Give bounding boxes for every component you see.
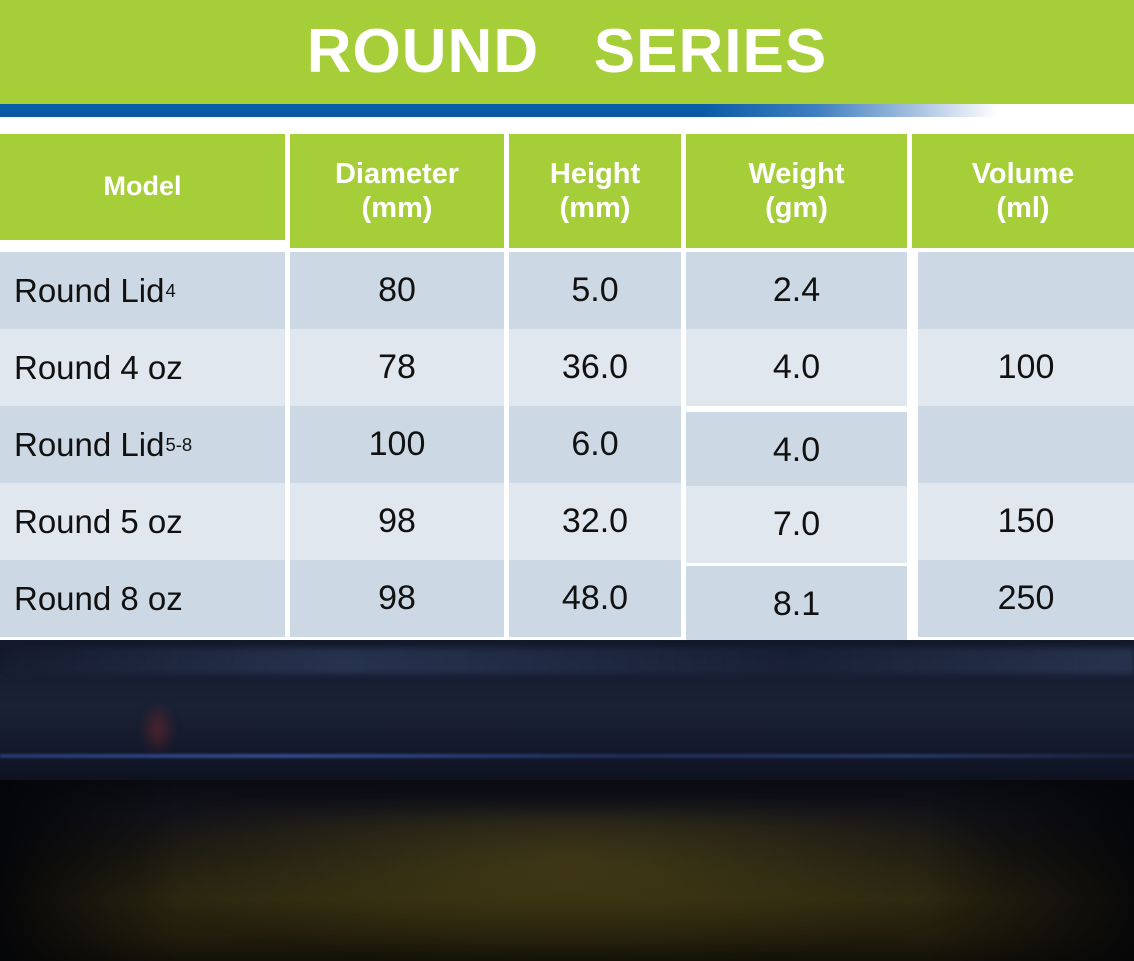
- cell-volume: [918, 252, 1134, 329]
- table-row: Round 8 oz: [0, 560, 285, 637]
- product-photo: [0, 640, 1134, 961]
- cell-height: 6.0: [509, 406, 681, 483]
- table-row: Round 5 oz: [0, 483, 285, 560]
- cell-volume: 100: [918, 329, 1134, 406]
- cell-height: 48.0: [509, 560, 681, 637]
- cell-volume: [918, 406, 1134, 483]
- cell-diameter: 80: [290, 252, 504, 329]
- table-row: Round Lid5-8: [0, 406, 285, 483]
- cell-volume: 150: [918, 483, 1134, 560]
- cell-model: Round Lid: [14, 426, 164, 464]
- cell-weight: 2.4: [686, 252, 907, 329]
- column-header-height-unit: (mm): [560, 191, 631, 225]
- table-row: Round 4 oz: [0, 329, 285, 406]
- photo-vignette-left: [0, 780, 180, 961]
- column-header-weight: Weight (gm): [686, 134, 907, 248]
- photo-surface-glow: [120, 810, 1020, 960]
- cell-diameter: 100: [290, 406, 504, 483]
- column-header-model: Model: [0, 134, 285, 240]
- photo-horizon-line: [0, 754, 1134, 758]
- cell-volume: 250: [918, 560, 1134, 637]
- column-header-volume-unit: (ml): [996, 191, 1049, 225]
- product-spec-sheet: ROUND SERIES Model Diameter (mm) Height …: [0, 0, 1134, 961]
- cell-model: Round 8 oz: [14, 580, 183, 618]
- blue-accent-rule: [0, 104, 1134, 117]
- column-header-model-label: Model: [104, 171, 182, 203]
- cell-model: Round 5 oz: [14, 503, 183, 541]
- banner-table-gap: [0, 117, 1134, 134]
- photo-wall-streak: [0, 648, 1134, 674]
- cell-height: 5.0: [509, 252, 681, 329]
- column-header-diameter: Diameter (mm): [290, 134, 504, 248]
- spec-table: Model Diameter (mm) Height (mm) Weight (…: [0, 134, 1134, 640]
- cell-height: 32.0: [509, 483, 681, 560]
- column-header-height-label: Height: [550, 157, 640, 191]
- column-header-diameter-unit: (mm): [362, 191, 433, 225]
- cell-diameter: 98: [290, 483, 504, 560]
- column-header-weight-label: Weight: [748, 157, 844, 191]
- column-header-volume: Volume (ml): [912, 134, 1134, 248]
- cell-diameter: 78: [290, 329, 504, 406]
- cell-diameter: 98: [290, 560, 504, 637]
- photo-vignette-right: [924, 780, 1134, 961]
- cell-weight: 8.1: [686, 566, 907, 643]
- column-header-height: Height (mm): [509, 134, 681, 248]
- cell-weight: 4.0: [686, 329, 907, 406]
- cell-weight: 7.0: [686, 486, 907, 563]
- page-title: ROUND SERIES: [307, 21, 827, 83]
- table-row: Round Lid4: [0, 252, 285, 329]
- cell-model: Round 4 oz: [14, 349, 183, 387]
- column-header-weight-unit: (gm): [765, 191, 828, 225]
- photo-wall-smudge: [140, 702, 176, 756]
- cell-weight: 4.0: [686, 412, 907, 489]
- cell-height: 36.0: [509, 329, 681, 406]
- column-header-volume-label: Volume: [972, 157, 1075, 191]
- column-header-diameter-label: Diameter: [335, 157, 459, 191]
- cell-model: Round Lid: [14, 272, 164, 310]
- banner-right-fade: [866, 0, 1134, 104]
